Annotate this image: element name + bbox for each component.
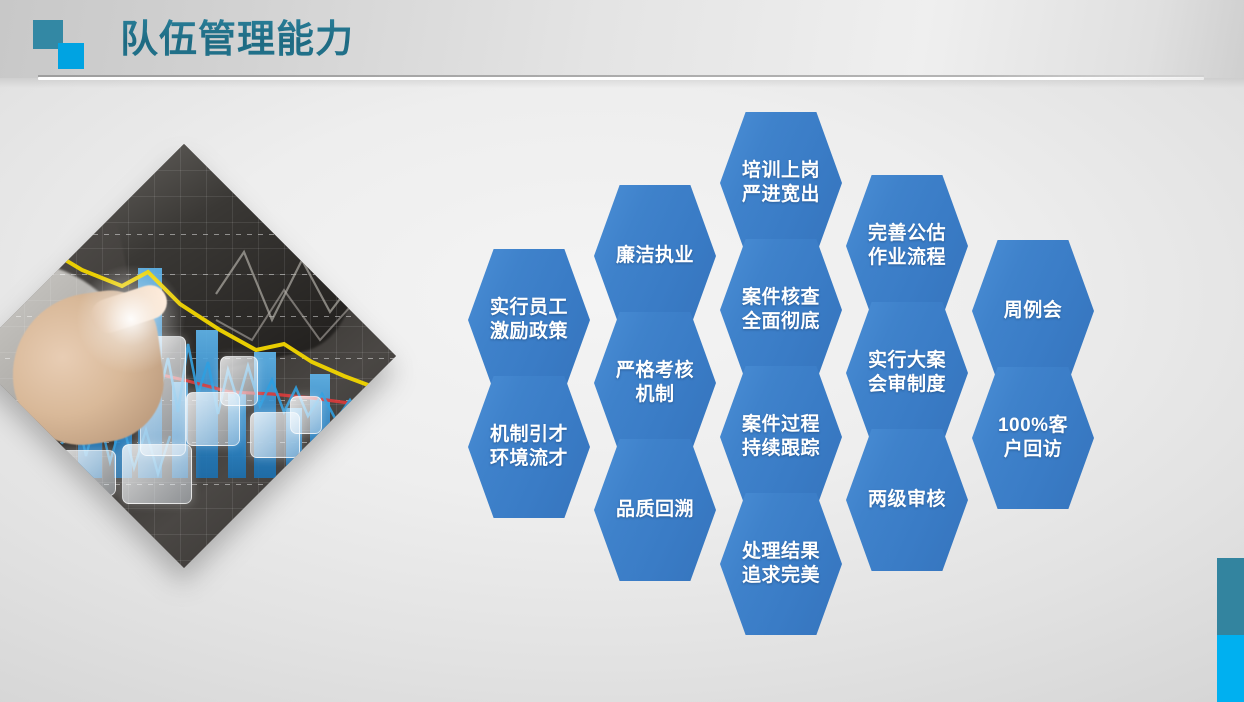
hexagon-c4-r1[interactable]: 完善公估 作业流程 [846, 175, 968, 317]
slide-canvas: 队伍管理能力 [0, 0, 1244, 702]
hexagon-c2-r1[interactable]: 廉洁执业 [594, 185, 716, 327]
hexagon-c3-r3[interactable]: 案件过程 持续跟踪 [720, 366, 842, 508]
hexagon-label: 两级审核 [862, 488, 952, 512]
hexagon-label: 廉洁执业 [610, 244, 700, 268]
hexagon-label: 案件过程 持续跟踪 [736, 413, 826, 461]
hexagon-diagram: 实行员工 激励政策 机制引才 环境流才 廉洁执业 严格考核 机制 品质回溯 培训… [0, 0, 1244, 702]
hexagon-c2-r2[interactable]: 严格考核 机制 [594, 312, 716, 454]
hexagon-c4-r2[interactable]: 实行大案 会审制度 [846, 302, 968, 444]
hexagon-c5-r1[interactable]: 周例会 [972, 240, 1094, 382]
hexagon-label: 案件核查 全面彻底 [736, 286, 826, 334]
hexagon-c3-r1[interactable]: 培训上岗 严进宽出 [720, 112, 842, 254]
hexagon-label: 严格考核 机制 [610, 359, 700, 407]
accent-bar-teal [1217, 558, 1244, 635]
hexagon-c1-r1[interactable]: 实行员工 激励政策 [468, 249, 590, 391]
hexagon-label: 100%客 户回访 [992, 414, 1074, 462]
hexagon-c3-r2[interactable]: 案件核查 全面彻底 [720, 239, 842, 381]
hexagon-c3-r4[interactable]: 处理结果 追求完美 [720, 493, 842, 635]
hexagon-label: 处理结果 追求完美 [736, 540, 826, 588]
hexagon-label: 周例会 [998, 299, 1069, 323]
hexagon-c2-r3[interactable]: 品质回溯 [594, 439, 716, 581]
hexagon-label: 实行员工 激励政策 [484, 296, 574, 344]
hexagon-c4-r3[interactable]: 两级审核 [846, 429, 968, 571]
hexagon-label: 机制引才 环境流才 [484, 423, 574, 471]
hexagon-label: 培训上岗 严进宽出 [736, 159, 826, 207]
hexagon-label: 完善公估 作业流程 [862, 222, 952, 270]
hexagon-c5-r2[interactable]: 100%客 户回访 [972, 367, 1094, 509]
hexagon-label: 品质回溯 [610, 498, 700, 522]
hexagon-label: 实行大案 会审制度 [862, 349, 952, 397]
accent-bar-cyan [1217, 635, 1244, 702]
hexagon-c1-r2[interactable]: 机制引才 环境流才 [468, 376, 590, 518]
